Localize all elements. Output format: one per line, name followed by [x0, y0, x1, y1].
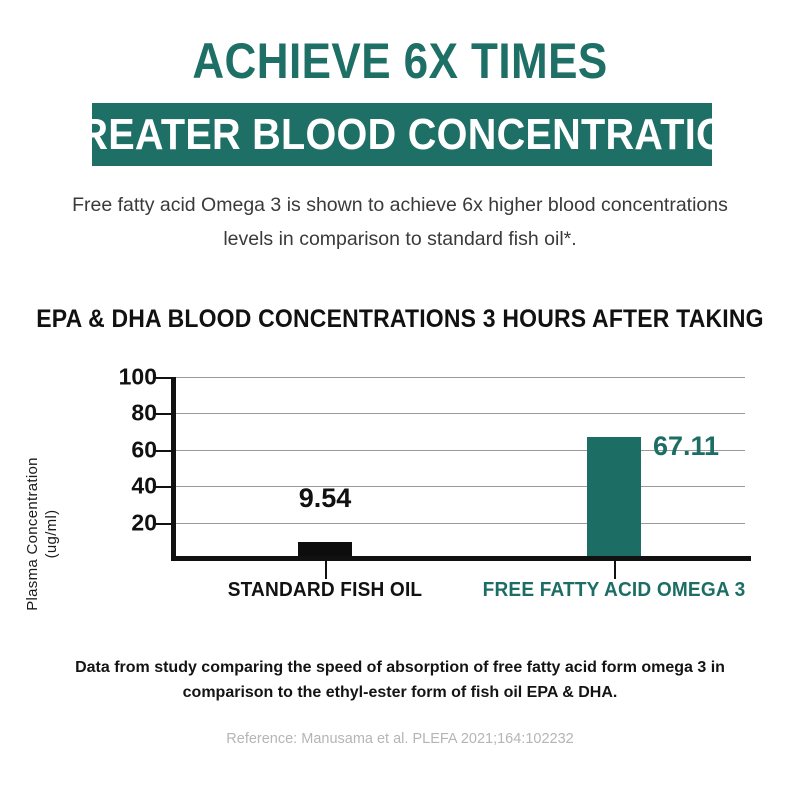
bar-value-label: 9.54 [299, 485, 352, 512]
y-axis-tick-label: 100 [97, 366, 157, 389]
x-axis-label-standard-fish-oil: STANDARD FISH OIL [228, 580, 423, 601]
plot-area: 204060801009.5467.11 [175, 377, 745, 559]
bar-value-label: 67.11 [653, 433, 719, 460]
y-axis-tick-label: 20 [97, 511, 157, 534]
y-axis-title-line-1: Plasma Concentration [23, 434, 42, 634]
subtitle-text: Free fatty acid Omega 3 is shown to achi… [50, 188, 750, 256]
x-axis-baseline [171, 556, 751, 561]
chart-title: EPA & DHA BLOOD CONCENTRATIONS 3 HOURS A… [32, 305, 768, 334]
gridline [175, 413, 745, 414]
x-axis-category-tick [614, 561, 616, 579]
bar-free-fatty-acid-omega-3 [587, 437, 641, 559]
headline-line-2: GREATER BLOOD CONCENTRATION [48, 112, 756, 158]
y-axis-tick-label: 80 [97, 402, 157, 425]
gridline [175, 523, 745, 524]
x-axis-category-tick [325, 561, 327, 579]
x-axis-label-free-fatty-acid-omega-3: FREE FATTY ACID OMEGA 3 [483, 580, 746, 601]
y-axis-tick-label: 40 [97, 475, 157, 498]
infographic-root: ACHIEVE 6X TIMES GREATER BLOOD CONCENTRA… [0, 0, 800, 800]
y-axis-title-line-2: (ug/ml) [42, 434, 61, 634]
gridline [175, 486, 745, 487]
footnote-text: Data from study comparing the speed of a… [60, 655, 740, 705]
y-axis-tick-label: 60 [97, 438, 157, 461]
y-axis-title: Plasma Concentration (ug/ml) [23, 434, 61, 634]
headline-line-1: ACHIEVE 6X TIMES [48, 34, 752, 88]
gridline [175, 377, 745, 378]
y-axis-spine [171, 377, 176, 561]
headline-banner: GREATER BLOOD CONCENTRATION [92, 103, 712, 166]
reference-text: Reference: Manusama et al. PLEFA 2021;16… [60, 729, 740, 749]
headline-block: ACHIEVE 6X TIMES [0, 34, 800, 88]
